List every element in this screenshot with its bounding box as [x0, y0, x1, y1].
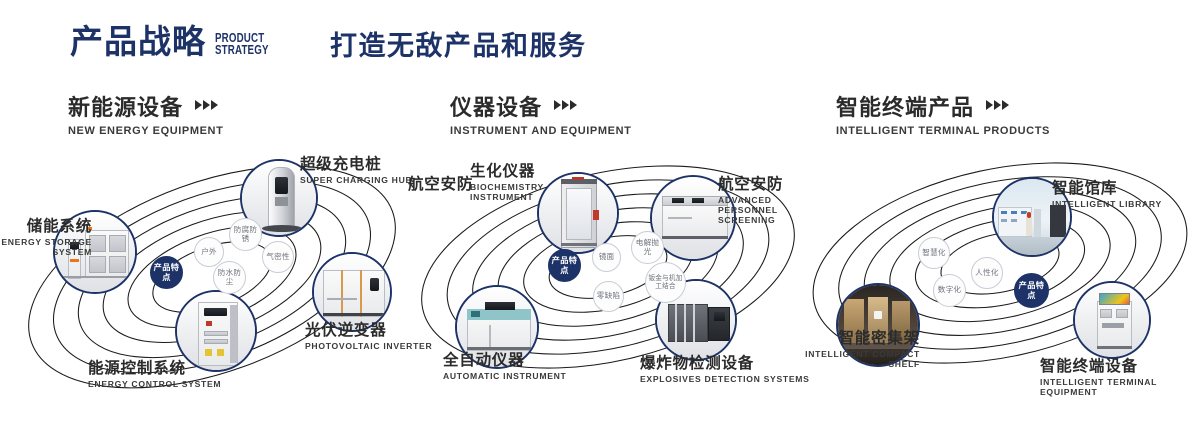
product-label-cn: 智能馆库	[1052, 180, 1162, 197]
product-label-en: INTELLIGENT LIBRARY	[1052, 200, 1162, 210]
feature-badge-label: 产品特点	[153, 263, 180, 282]
product-label-en: ENERGY STORAGE SYSTEM	[0, 238, 92, 257]
product-label-energy-control-system: 能源控制系统 ENERGY CONTROL SYSTEM	[88, 360, 221, 390]
feature-bubble-smart: 智慧化	[918, 237, 950, 269]
feature-bubble-label: 防水防尘	[216, 269, 243, 287]
section-head-en: INSTRUMENT AND EQUIPMENT	[450, 125, 631, 137]
product-label-automatic-instrument: 全自动仪器 AUTOMATIC INSTRUMENT	[443, 352, 566, 382]
feature-bubble-mirror: 镜面	[592, 243, 621, 272]
product-label-cn: 能源控制系统	[88, 360, 221, 377]
feature-badge-label: 产品特点	[1017, 281, 1046, 300]
intelligent-terminal-equipment-photo	[1075, 283, 1149, 357]
feature-bubble-zerodefect: 零缺陷	[593, 281, 624, 312]
feature-badge-label: 产品特点	[551, 256, 578, 275]
product-label-en: BIOCHEMISTRY INSTRUMENT	[470, 183, 566, 202]
photovoltaic-inverter-photo	[314, 254, 390, 330]
masthead-title-en-line2: STRATEGY	[215, 44, 269, 56]
masthead-title-en: PRODUCT STRATEGY	[215, 32, 269, 56]
product-label-super-charging-hub: 超级充电桩 SUPER CHARGING HUB	[300, 156, 412, 186]
feature-badge-primary: 产品特点	[548, 249, 581, 282]
product-label-en: SUPER CHARGING HUB	[300, 176, 412, 186]
chevron-triple-icon	[554, 97, 578, 115]
feature-bubble-label: 气密性	[266, 253, 289, 262]
product-label-energy-storage: 储能系统 ENERGY STORAGE SYSTEM	[0, 218, 92, 258]
product-node-intelligent-terminal-equipment[interactable]	[1073, 281, 1151, 359]
product-label-intelligent-terminal-equipment: 智能终端设备 INTELLIGENT TERMINAL EQUIPMENT	[1040, 358, 1200, 398]
chevron-triple-icon	[195, 97, 219, 115]
feature-bubble-anticorrosion: 防腐防锈	[229, 218, 262, 251]
masthead-slogan: 打造无敌产品和服务	[330, 32, 587, 62]
feature-badge-primary: 产品特点	[150, 256, 183, 289]
feature-badge-primary: 产品特点	[1014, 273, 1049, 308]
section-head-instrument: 仪器设备 INSTRUMENT AND EQUIPMENT	[450, 96, 631, 137]
product-label-cn: 智能密集架	[790, 330, 920, 347]
poster-root: 产品战略 PRODUCT STRATEGY 打造无敌产品和服务 新能源设备 NE…	[0, 0, 1200, 422]
product-label-en: AUTOMATIC INSTRUMENT	[443, 372, 566, 382]
chevron-triple-icon	[986, 97, 1010, 115]
masthead: 产品战略 PRODUCT STRATEGY	[70, 25, 284, 58]
feature-bubble-label: 数字化	[938, 286, 961, 295]
product-label-cn: 超级充电桩	[300, 156, 412, 173]
feature-bubble-waterproof: 防水防尘	[213, 261, 246, 294]
product-label-intelligent-library: 智能馆库 INTELLIGENT LIBRARY	[1052, 180, 1162, 210]
product-label-intelligent-compact-shelf: 智能密集架 INTELLIGENT COMPACT SHELF	[790, 330, 920, 370]
product-label-en: ENERGY CONTROL SYSTEM	[88, 380, 221, 390]
product-label-cn: 爆炸物检测设备	[640, 355, 810, 372]
product-label-aviation-security-left: 航空安防	[408, 176, 473, 193]
feature-bubble-digital: 数字化	[933, 274, 966, 307]
product-label-cn: 生化仪器	[470, 163, 566, 180]
product-label-biochemistry-instrument: 生化仪器 BIOCHEMISTRY INSTRUMENT	[470, 163, 566, 203]
product-node-photovoltaic-inverter[interactable]	[312, 252, 392, 332]
product-label-en: INTELLIGENT COMPACT SHELF	[790, 350, 920, 369]
feature-bubble-sheetmetal: 钣金与机加工结合	[645, 262, 686, 303]
feature-bubble-label: 智慧化	[922, 249, 945, 258]
energy-control-system-photo	[177, 292, 255, 370]
feature-bubble-airtight: 气密性	[262, 241, 294, 273]
feature-bubble-outdoor: 户外	[194, 237, 224, 267]
feature-bubble-label: 电解抛光	[634, 239, 661, 257]
product-label-explosives-detection: 爆炸物检测设备 EXPLOSIVES DETECTION SYSTEMS	[640, 355, 810, 385]
section-head-cn: 仪器设备	[450, 96, 542, 120]
product-label-en: EXPLOSIVES DETECTION SYSTEMS	[640, 375, 810, 385]
feature-bubble-label: 零缺陷	[597, 292, 620, 301]
section-head-cn: 新能源设备	[68, 96, 183, 120]
product-label-cn: 储能系统	[0, 218, 92, 235]
feature-bubble-humanized: 人性化	[971, 257, 1003, 289]
feature-bubble-label: 人性化	[975, 269, 998, 278]
product-label-en: INTELLIGENT TERMINAL EQUIPMENT	[1040, 378, 1200, 397]
section-head-new-energy: 新能源设备 NEW ENERGY EQUIPMENT	[68, 96, 223, 137]
masthead-title-cn: 产品战略	[70, 25, 206, 58]
section-head-en: NEW ENERGY EQUIPMENT	[68, 125, 223, 137]
section-head-en: INTELLIGENT TERMINAL PRODUCTS	[836, 125, 1050, 137]
feature-bubble-label: 钣金与机加工结合	[648, 275, 683, 291]
section-head-cn: 智能终端产品	[836, 96, 974, 120]
feature-bubble-label: 镜面	[599, 253, 615, 262]
section-head-intelligent: 智能终端产品 INTELLIGENT TERMINAL PRODUCTS	[836, 96, 1050, 137]
feature-bubble-label: 户外	[201, 248, 217, 257]
product-label-cn: 全自动仪器	[443, 352, 566, 369]
product-label-cn: 智能终端设备	[1040, 358, 1200, 375]
feature-bubble-label: 防腐防锈	[232, 226, 259, 244]
feature-bubble-electropolishing: 电解抛光	[631, 231, 664, 264]
product-label-cn: 航空安防	[408, 176, 473, 193]
